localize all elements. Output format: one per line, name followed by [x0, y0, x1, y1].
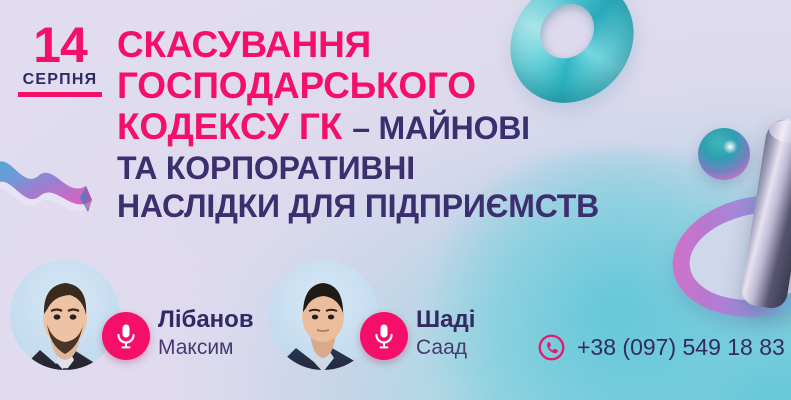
speaker-last-name: Шаді — [416, 308, 475, 332]
event-date-month: СЕРПНЯ — [14, 71, 106, 89]
microphone-badge — [102, 312, 150, 360]
contact-phone[interactable]: +38 (097) 549 18 83 — [538, 334, 785, 361]
speaker-first-name: Максим — [158, 337, 254, 358]
headline-line-1: СКАСУВАННЯ — [117, 24, 677, 65]
avatar — [268, 260, 378, 370]
microphone-icon — [115, 323, 137, 349]
gradient-sphere-icon — [698, 128, 750, 180]
microphone-badge — [360, 312, 408, 360]
twisted-ribbon-icon — [0, 138, 98, 234]
headline-line-5: НАСЛІДКИ ДЛЯ ПІДПРИЄМСТВ — [117, 187, 677, 225]
headline-line-3: КОДЕКСУ ГК – МАЙНОВІ — [117, 106, 677, 149]
event-banner: 14 СЕРПНЯ СКАСУВАННЯ ГОСПОДАРСЬКОГО КОДЕ… — [0, 0, 791, 400]
microphone-icon — [373, 323, 395, 349]
headline-line-3-pink: КОДЕКСУ ГК — [117, 106, 342, 147]
headline-line-3-navy: – МАЙНОВІ — [352, 110, 530, 146]
event-date-day: 14 — [14, 22, 106, 68]
speaker-name: Лібанов Максим — [158, 308, 254, 358]
speaker-first-name: Саад — [416, 337, 475, 358]
phone-circle-icon — [538, 334, 565, 361]
speaker-photo — [280, 268, 366, 398]
speaker-last-name: Лібанов — [158, 308, 254, 332]
speaker-name: Шаді Саад — [416, 308, 475, 358]
event-date: 14 СЕРПНЯ — [14, 22, 106, 97]
speaker-photo — [22, 268, 108, 398]
avatar — [10, 260, 120, 370]
date-underline — [18, 92, 102, 97]
headline: СКАСУВАННЯ ГОСПОДАРСЬКОГО КОДЕКСУ ГК – М… — [117, 24, 677, 225]
headline-line-2: ГОСПОДАРСЬКОГО — [117, 65, 677, 106]
phone-number-text: +38 (097) 549 18 83 — [577, 334, 785, 361]
headline-line-4: ТА КОРПОРАТИВНІ — [117, 149, 677, 187]
